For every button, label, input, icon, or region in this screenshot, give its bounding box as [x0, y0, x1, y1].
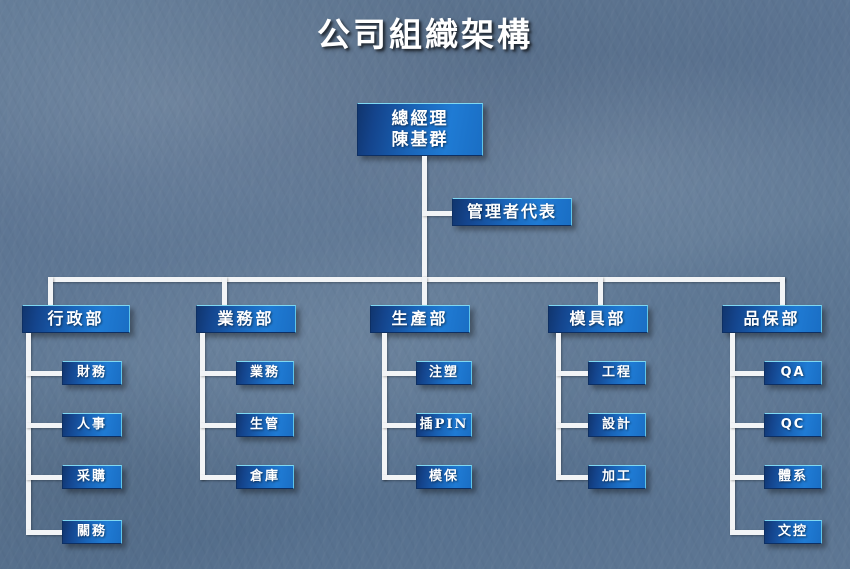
node-department-2-child-3[interactable]: 倉庫: [236, 465, 294, 489]
general-manager-name: 陳基群: [392, 130, 449, 150]
node-department-2-child-2[interactable]: 生管: [236, 413, 294, 437]
connector-stub-4-2: [556, 423, 590, 428]
node-department-1-child-2[interactable]: 人事: [62, 413, 122, 437]
connector-stub-5-3: [730, 475, 766, 480]
connector-stub-5-1: [730, 371, 766, 376]
node-department-2[interactable]: 業務部: [196, 305, 296, 333]
node-department-4-child-1[interactable]: 工程: [588, 361, 646, 385]
connector-spine-dept-3: [382, 333, 387, 480]
connector-stub-4-3: [556, 475, 590, 480]
connector-staff-branch: [422, 211, 456, 216]
node-general-manager[interactable]: 總經理 陳基群: [357, 103, 483, 156]
connector-stub-5-2: [730, 423, 766, 428]
node-department-3[interactable]: 生產部: [370, 305, 470, 333]
connector-stub-1-2: [26, 423, 64, 428]
connector-drop-dept-3: [422, 277, 427, 306]
connector-spine-dept-2: [200, 333, 205, 480]
connector-stub-3-2: [382, 423, 418, 428]
node-department-5-child-1[interactable]: QA: [764, 361, 822, 385]
node-department-3-child-1[interactable]: 注塑: [416, 361, 472, 385]
connector-root-trunk: [422, 156, 427, 280]
connector-drop-dept-1: [48, 277, 53, 306]
node-department-4-child-2[interactable]: 設計: [588, 413, 646, 437]
org-chart-slide: 公司組織架構 總經理 陳基群 管理者代表 行政部 財務 人事 采購 關務 業務部…: [0, 0, 850, 569]
connector-department-bus: [48, 277, 785, 282]
node-department-5-child-4[interactable]: 文控: [764, 520, 822, 544]
connector-stub-1-1: [26, 371, 64, 376]
node-department-3-child-2[interactable]: 插PIN: [416, 413, 472, 437]
connector-spine-dept-5: [730, 333, 735, 533]
connector-stub-2-2: [200, 423, 238, 428]
connector-stub-4-1: [556, 371, 590, 376]
node-management-representative[interactable]: 管理者代表: [452, 198, 572, 226]
connector-spine-dept-1: [26, 333, 31, 533]
connector-stub-2-3: [200, 475, 238, 480]
node-department-1-child-1[interactable]: 財務: [62, 361, 122, 385]
connector-drop-dept-5: [780, 277, 785, 306]
node-department-4-child-3[interactable]: 加工: [588, 465, 646, 489]
node-department-5-child-2[interactable]: QC: [764, 413, 822, 437]
node-department-4[interactable]: 模具部: [548, 305, 648, 333]
node-department-1-child-3[interactable]: 采購: [62, 465, 122, 489]
node-department-1-child-4[interactable]: 關務: [62, 520, 122, 544]
node-department-3-child-3[interactable]: 模保: [416, 465, 472, 489]
connector-stub-5-4: [730, 530, 766, 535]
connector-stub-2-1: [200, 371, 238, 376]
node-department-2-child-1[interactable]: 業務: [236, 361, 294, 385]
node-department-5[interactable]: 品保部: [722, 305, 822, 333]
connector-drop-dept-2: [222, 277, 227, 306]
connector-spine-dept-4: [556, 333, 561, 480]
node-department-1[interactable]: 行政部: [22, 305, 130, 333]
connector-stub-1-4: [26, 530, 64, 535]
connector-stub-3-3: [382, 475, 418, 480]
general-manager-title: 總經理: [392, 109, 449, 129]
connector-stub-1-3: [26, 475, 64, 480]
node-department-5-child-3[interactable]: 體系: [764, 465, 822, 489]
connector-drop-dept-4: [598, 277, 603, 306]
connector-stub-3-1: [382, 371, 418, 376]
page-title: 公司組織架構: [0, 8, 850, 56]
